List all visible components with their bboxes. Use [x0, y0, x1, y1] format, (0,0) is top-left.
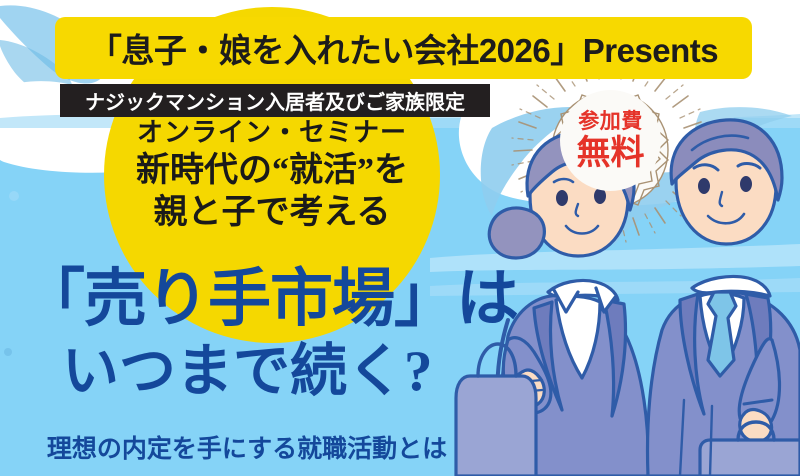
male-briefcase	[700, 440, 800, 476]
free-participation-badge: 参加費 無料	[548, 78, 673, 203]
badge-free-label: 無料	[577, 136, 645, 170]
eligibility-bar-text: ナジックマンション入居者及びご家族限定	[85, 86, 465, 115]
presenter-banner: 「息子・娘を入れたい会社2026」Presents	[55, 17, 752, 79]
female-ponytail	[489, 208, 544, 258]
presenter-banner-text: 「息子・娘を入れたい会社2026」Presents	[89, 24, 718, 72]
female-bag	[456, 376, 536, 476]
male-eye-left	[698, 178, 710, 194]
eligibility-bar: ナジックマンション入居者及びご家族限定	[60, 84, 490, 117]
male-tie	[708, 292, 736, 376]
seminar-promo-banner: オンライン・セミナー 新時代の“就活”を 親と子で考える 参加費 無料 「息子・…	[0, 0, 800, 476]
badge-fee-label: 参加費	[578, 111, 643, 132]
male-eye-right	[740, 176, 752, 192]
badge-inner-face: 参加費 無料	[560, 90, 661, 191]
